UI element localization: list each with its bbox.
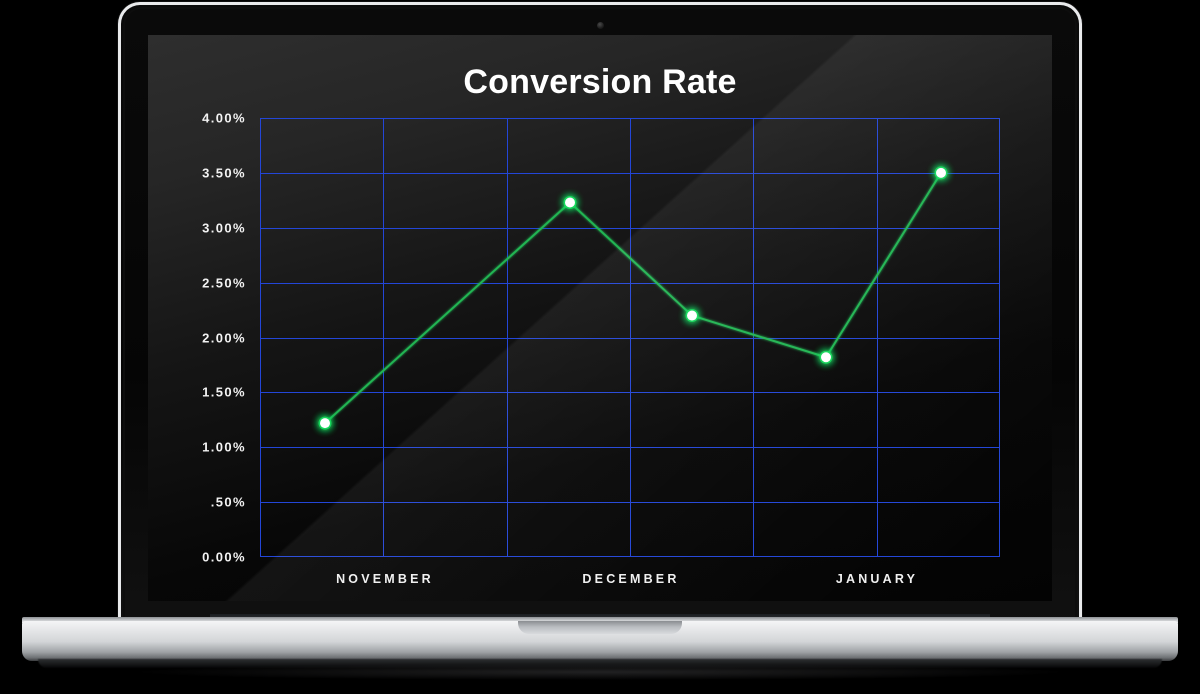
data-point-marker[interactable] [320,418,330,428]
laptop-base-notch [518,621,682,634]
laptop-screen: Conversion Rate [148,35,1052,601]
chart-title: Conversion Rate [148,63,1052,102]
data-point-marker[interactable] [565,198,575,208]
y-axis-tick-label: 3.00% [166,220,246,235]
chart-plot-area: 4.00%3.50%3.00%2.50%2.00%1.50%1.00%.50%0… [260,118,1000,557]
series-markers [319,166,948,429]
data-point-marker[interactable] [936,168,946,178]
data-point-marker[interactable] [687,311,697,321]
screenshot-root: Conversion Rate [0,0,1200,694]
x-axis-tick-label: JANUARY [836,572,918,586]
y-axis-tick-label: 2.50% [166,275,246,290]
y-axis-tick-label: 3.50% [166,165,246,180]
series-line [325,173,941,423]
y-axis-tick-label: 2.00% [166,330,246,345]
y-axis-tick-label: .50% [166,495,246,510]
data-point-marker[interactable] [821,352,831,362]
y-axis-tick-label: 4.00% [166,111,246,126]
line-series-svg [260,118,1000,557]
y-axis-tick-label: 1.00% [166,440,246,455]
x-axis-tick-label: NOVEMBER [336,572,434,586]
x-axis-tick-label: DECEMBER [582,572,679,586]
webcam-icon [597,22,604,29]
laptop-base-shadow [140,664,1060,680]
y-axis-tick-label: 1.50% [166,385,246,400]
y-axis-tick-label: 0.00% [166,550,246,565]
